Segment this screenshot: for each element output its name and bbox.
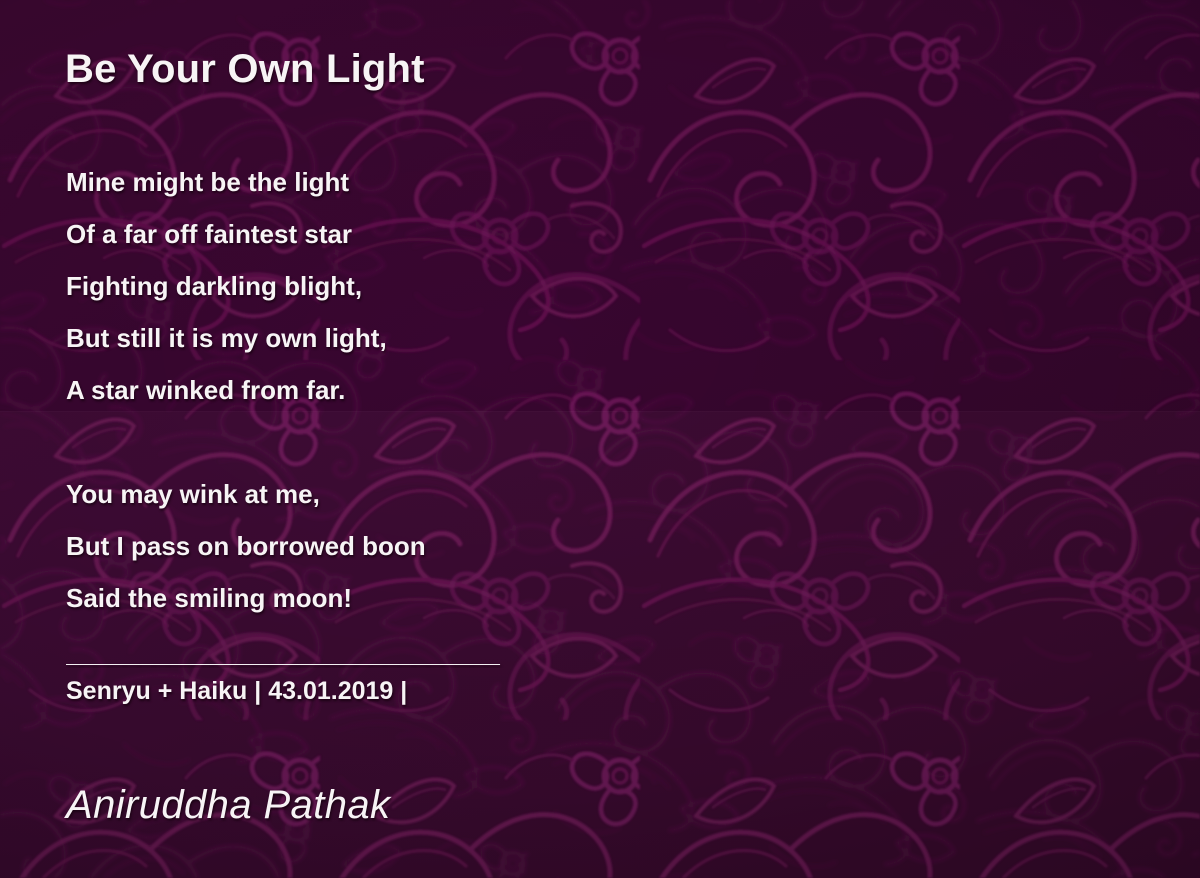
poem-stanza-break [66, 416, 426, 468]
horizontal-divider: ______________________________ [66, 638, 526, 668]
poem-line: But I pass on borrowed boon [66, 520, 426, 572]
poem-body: Mine might be the light Of a far off fai… [66, 156, 426, 624]
poem-line: You may wink at me, [66, 468, 426, 520]
poem-content: Be Your Own Light Mine might be the ligh… [0, 0, 1200, 878]
poem-line: Fighting darkling blight, [66, 260, 426, 312]
poem-line: A star winked from far. [66, 364, 426, 416]
poem-image-card: Be Your Own Light Mine might be the ligh… [0, 0, 1200, 878]
poem-line: But still it is my own light, [66, 312, 426, 364]
poem-line: Said the smiling moon! [66, 572, 426, 624]
poem-line: Mine might be the light [66, 156, 426, 208]
poem-line: Of a far off faintest star [66, 208, 426, 260]
poem-author: Aniruddha Pathak [66, 782, 390, 828]
page-title: Be Your Own Light [65, 47, 425, 91]
poem-metadata: Senryu + Haiku | 43.01.2019 | [66, 675, 407, 707]
